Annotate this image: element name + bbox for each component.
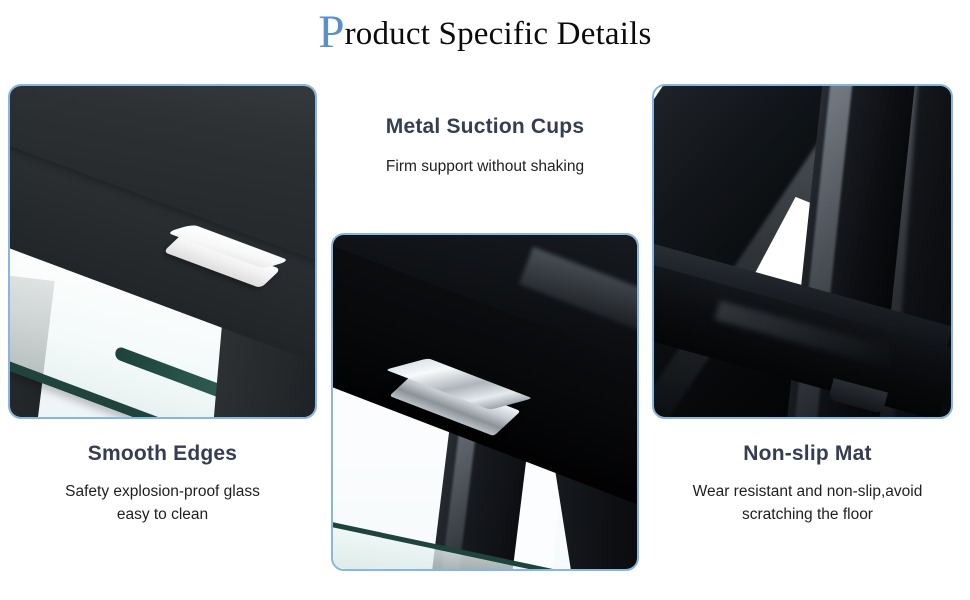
- photo-panel-smooth-edges: [8, 84, 317, 419]
- caption-title-smooth-edges: Smooth Edges: [0, 442, 325, 466]
- product-photo-suction-cup: [333, 235, 637, 569]
- caption-title-nonslip-mat: Non-slip Mat: [645, 442, 970, 466]
- product-photo-glass-corner: [10, 86, 315, 417]
- photo-panel-nonslip-mat: [652, 84, 953, 419]
- caption-line-1: Safety explosion-proof glass: [65, 483, 260, 500]
- caption-suction-cups: Metal Suction Cups Firm support without …: [325, 115, 645, 178]
- caption-body-smooth-edges: Safety explosion-proof glasseasy to clea…: [0, 466, 325, 526]
- photo-panel-suction-cups: [331, 233, 639, 571]
- caption-title-suction-cups: Metal Suction Cups: [325, 115, 645, 139]
- caption-line-2: easy to clean: [117, 506, 208, 523]
- caption-nonslip-mat: Non-slip Mat Wear resistant and non-slip…: [645, 442, 970, 526]
- caption-body-nonslip-mat: Wear resistant and non-slip,avoidscratch…: [645, 466, 970, 526]
- page-title: Product Specific Details: [0, 8, 970, 60]
- caption-body-suction-cups: Firm support without shaking: [325, 139, 645, 178]
- title-text: roduct Specific Details: [345, 16, 652, 52]
- caption-line-1: Wear resistant and non-slip,avoid: [693, 483, 923, 500]
- product-photo-leg-frame: [654, 86, 951, 417]
- title-dropcap: P: [318, 6, 344, 58]
- caption-smooth-edges: Smooth Edges Safety explosion-proof glas…: [0, 442, 325, 526]
- caption-line-2: scratching the floor: [742, 506, 873, 523]
